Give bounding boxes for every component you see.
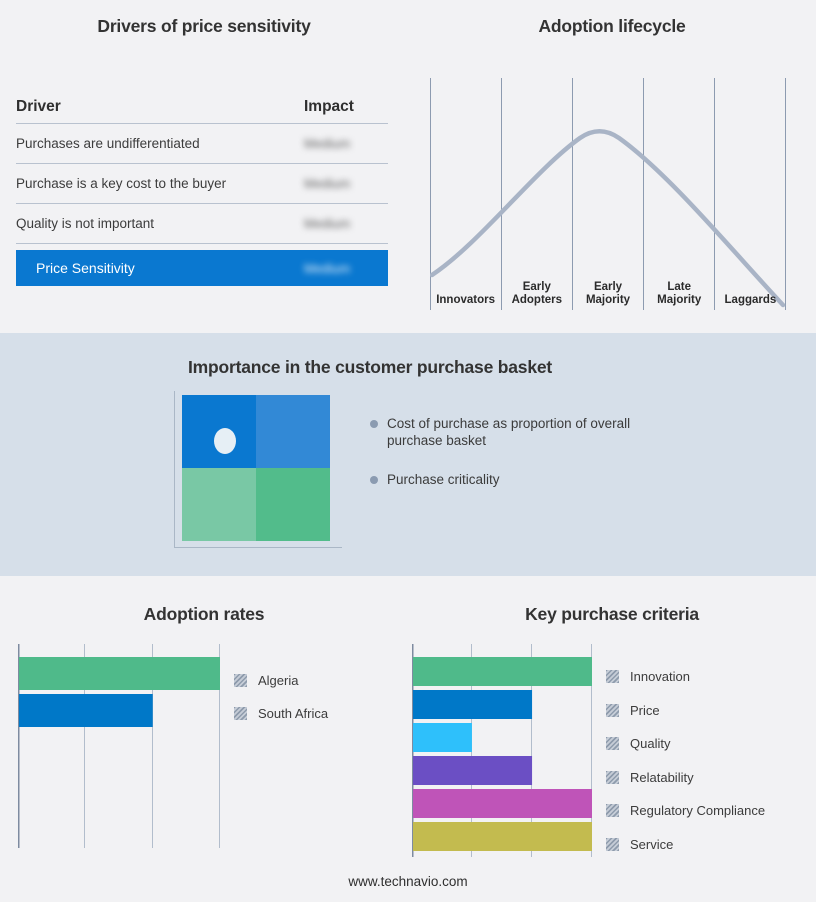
legend-item: Price — [606, 694, 765, 728]
legend-label: Service — [630, 837, 673, 852]
stage-line2: Adopters — [501, 294, 572, 307]
impact-value-redacted: Medium — [304, 136, 388, 151]
bar-chart-svg — [18, 644, 220, 848]
stage-line2: Majority — [572, 294, 643, 307]
hatched-square-icon — [606, 704, 619, 717]
column-header-driver: Driver — [16, 98, 61, 116]
basket-legend: Cost of purchase as proportion of overal… — [370, 415, 670, 510]
lifecycle-stage-late-majority: Late Majority — [644, 270, 715, 308]
bar-relatability — [413, 756, 532, 785]
bullet-dot-icon — [370, 420, 378, 428]
bar-price — [413, 690, 532, 719]
adoption-lifecycle-panel: Adoption lifecycle Innovators — [408, 0, 816, 333]
basket-title: Importance in the customer purchase bask… — [0, 357, 740, 378]
purchase-basket-section: Importance in the customer purchase bask… — [0, 333, 816, 576]
drivers-panel: Drivers of price sensitivity Driver Impa… — [0, 0, 408, 333]
footer-url: www.technavio.com — [0, 874, 816, 889]
stage-line1: Late — [644, 281, 715, 294]
hatched-square-icon — [606, 771, 619, 784]
stage-line1: Early — [501, 281, 572, 294]
lifecycle-stage-early-majority: Early Majority — [572, 270, 643, 308]
stage-line2: Majority — [644, 294, 715, 307]
bar-service — [413, 822, 592, 851]
lifecycle-stage-early-adopters: Early Adopters — [501, 270, 572, 308]
adoption-rates-chart — [18, 644, 220, 848]
stage-line2: Innovators — [430, 294, 501, 307]
hatched-square-icon — [606, 804, 619, 817]
position-marker-dot — [214, 428, 236, 454]
lifecycle-stage-innovators: Innovators — [430, 270, 501, 308]
quadrant-x-axis — [174, 547, 342, 548]
legend-item: Regulatory Compliance — [606, 794, 765, 828]
hatched-square-icon — [606, 737, 619, 750]
lifecycle-title: Adoption lifecycle — [408, 16, 816, 37]
legend-item: Cost of purchase as proportion of overal… — [370, 415, 670, 449]
table-row: Purchase is a key cost to the buyer Medi… — [16, 164, 388, 204]
bar-quality — [413, 723, 472, 752]
impact-value-redacted: Medium — [304, 216, 388, 231]
hatched-square-icon — [606, 670, 619, 683]
legend-label: Cost of purchase as proportion of overal… — [387, 415, 639, 449]
lifecycle-stage-labels: Innovators Early Adopters Early Majority… — [430, 270, 786, 308]
key-purchase-criteria-chart — [412, 644, 592, 857]
adoption-rates-title: Adoption rates — [0, 604, 408, 625]
legend-item: Service — [606, 828, 765, 862]
quadrant-bottom-left — [182, 468, 256, 541]
bar-innovation — [413, 657, 592, 686]
hatched-square-icon — [606, 838, 619, 851]
legend-item: South Africa — [234, 697, 328, 730]
legend-item: Quality — [606, 727, 765, 761]
summary-impact-redacted: Medium — [304, 261, 388, 276]
legend-label: Quality — [630, 736, 670, 751]
legend-label: South Africa — [258, 706, 328, 721]
legend-item: Purchase criticality — [370, 471, 670, 488]
drivers-table: Driver Impact Purchases are undifferenti… — [16, 90, 388, 286]
legend-item: Algeria — [234, 664, 328, 697]
legend-label: Price — [630, 703, 660, 718]
legend-item: Relatability — [606, 761, 765, 795]
bar-chart-svg — [412, 644, 592, 857]
drivers-title: Drivers of price sensitivity — [0, 16, 408, 37]
table-header-row: Driver Impact — [16, 90, 388, 124]
bullet-dot-icon — [370, 476, 378, 484]
legend-label: Relatability — [630, 770, 694, 785]
stage-line1: Early — [572, 281, 643, 294]
bar-south-africa — [19, 694, 153, 727]
quadrant-bottom-right — [256, 468, 330, 541]
adoption-rates-legend: AlgeriaSouth Africa — [234, 664, 328, 730]
lifecycle-stage-laggards: Laggards — [715, 270, 786, 308]
table-row: Quality is not important Medium — [16, 204, 388, 244]
driver-label: Quality is not important — [16, 216, 154, 231]
legend-label: Regulatory Compliance — [630, 803, 765, 818]
bar-regulatory-compliance — [413, 789, 592, 818]
impact-value-redacted: Medium — [304, 176, 388, 191]
legend-label: Algeria — [258, 673, 298, 688]
hatched-square-icon — [234, 674, 247, 687]
driver-label: Purchases are undifferentiated — [16, 136, 200, 151]
stage-line2: Laggards — [715, 294, 786, 307]
legend-label: Innovation — [630, 669, 690, 684]
purchase-basket-quadrant-chart — [172, 395, 344, 551]
driver-label: Purchase is a key cost to the buyer — [16, 176, 226, 191]
quadrant-grid — [182, 395, 330, 541]
legend-item: Innovation — [606, 660, 765, 694]
legend-label: Purchase criticality — [387, 471, 500, 488]
top-section: Drivers of price sensitivity Driver Impa… — [0, 0, 816, 333]
quadrant-y-axis — [174, 391, 175, 547]
bar-algeria — [19, 657, 220, 690]
table-row: Purchases are undifferentiated Medium — [16, 124, 388, 164]
quadrant-top-right — [256, 395, 330, 468]
key-purchase-criteria-legend: InnovationPriceQualityRelatabilityRegula… — [606, 660, 765, 861]
price-sensitivity-summary-row: Price Sensitivity Medium — [16, 250, 388, 286]
key-purchase-criteria-title: Key purchase criteria — [408, 604, 816, 625]
hatched-square-icon — [234, 707, 247, 720]
summary-label: Price Sensitivity — [36, 260, 135, 276]
column-header-impact: Impact — [304, 98, 388, 116]
